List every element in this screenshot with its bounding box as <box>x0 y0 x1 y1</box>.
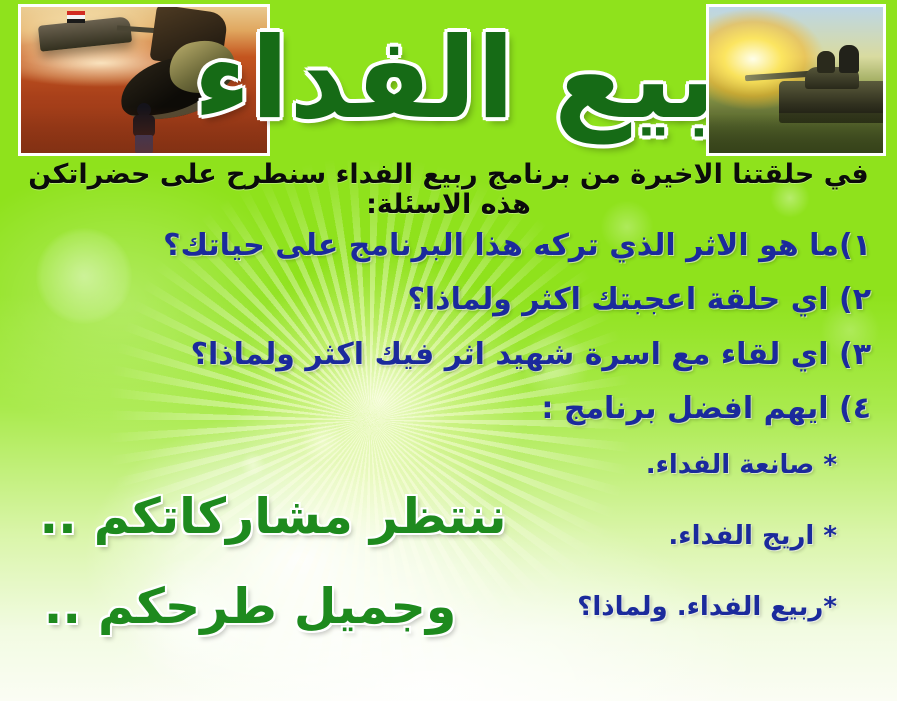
crew-member <box>839 45 859 73</box>
option-item-1: * صانعة الفداء. <box>0 452 897 479</box>
poster-subtitle: في حلقتنا الاخيرة من برنامج ربيع الفداء … <box>0 160 897 219</box>
tank-barrel <box>745 71 811 82</box>
grass-field <box>709 113 886 153</box>
closing-line-1: ننتظر مشاركاتكم .. <box>38 488 508 545</box>
question-item-1: ١)ما هو الاثر الذي تركه هذا البرنامج على… <box>0 230 897 262</box>
closing-line-2: وجميل طرحكم .. <box>40 578 460 635</box>
flag-icon <box>67 11 85 23</box>
tank-firing-photo <box>706 4 886 156</box>
page-title: ربيع الفداء <box>276 4 700 154</box>
question-item-3: ٣) اي لقاء مع اسرة شهيد اثر فيك اكثر ولم… <box>0 339 897 371</box>
crew-member <box>817 51 835 73</box>
question-item-2: ٢) اي حلقة اعجبتك اكثر ولماذا؟ <box>0 284 897 316</box>
questions-list: ١)ما هو الاثر الذي تركه هذا البرنامج على… <box>0 228 897 621</box>
question-item-4: ٤) ايهم افضل برنامج : <box>0 393 897 425</box>
poster-header: ربيع الفداء <box>0 0 897 160</box>
poster-canvas: ربيع الفداء في حلقتنا الاخيرة من برنامج … <box>0 0 897 701</box>
